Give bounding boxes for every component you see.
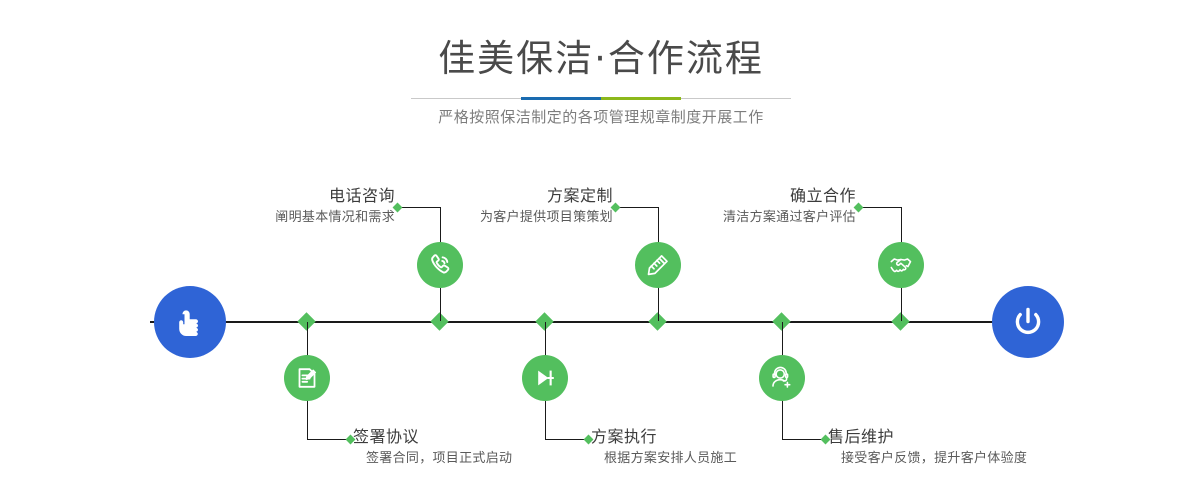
page-title: 佳美保洁·合作流程 — [0, 36, 1202, 82]
connector-horizontal-step-6 — [782, 439, 825, 440]
timeline-end-node[interactable] — [992, 286, 1064, 358]
step-title-4: 方案执行 — [591, 426, 737, 448]
process-flow-infographic: 佳美保洁·合作流程 严格按照保洁制定的各项管理规章制度开展工作 — [0, 0, 1202, 502]
step-label-5: 确立合作 清洁方案通过客户评估 — [676, 185, 856, 229]
step-desc-4: 根据方案安排人员施工 — [591, 448, 737, 470]
play-execute-icon — [532, 365, 558, 391]
step-node-4[interactable] — [522, 355, 568, 401]
step-node-6[interactable] — [759, 355, 805, 401]
step-title-1: 电话咨询 — [215, 185, 395, 207]
step-node-3[interactable] — [635, 242, 681, 288]
step-label-1: 电话咨询 阐明基本情况和需求 — [215, 185, 395, 229]
connector-horizontal-step-3 — [616, 207, 658, 208]
document-sign-icon — [294, 365, 320, 391]
step-node-5[interactable] — [878, 242, 924, 288]
step-desc-5: 清洁方案通过客户评估 — [676, 207, 856, 229]
step-title-2: 签署协议 — [353, 426, 512, 448]
timeline-start-node[interactable] — [154, 286, 226, 358]
connector-horizontal-step-2 — [307, 439, 350, 440]
step-node-2[interactable] — [284, 355, 330, 401]
pencil-ruler-icon — [645, 252, 671, 278]
step-desc-2: 签署合同，项目正式启动 — [353, 448, 512, 470]
pointing-hand-icon — [170, 302, 210, 342]
divider-blue-segment — [521, 97, 601, 100]
customer-service-icon — [769, 365, 795, 391]
step-desc-6: 接受客户反馈，提升客户体验度 — [828, 448, 1027, 470]
step-label-6: 售后维护 接受客户反馈，提升客户体验度 — [828, 426, 1027, 470]
step-title-3: 方案定制 — [433, 185, 613, 207]
step-node-1[interactable] — [417, 242, 463, 288]
title-divider — [411, 97, 791, 100]
step-title-6: 售后维护 — [828, 426, 1027, 448]
connector-horizontal-step-5 — [859, 207, 901, 208]
phone-call-icon — [427, 252, 453, 278]
timeline-axis — [150, 321, 1052, 323]
page-subtitle: 严格按照保洁制定的各项管理规章制度开展工作 — [0, 105, 1202, 129]
divider-green-segment — [601, 97, 681, 100]
connector-horizontal-step-4 — [545, 439, 588, 440]
handshake-icon — [888, 252, 914, 278]
power-button-icon — [1008, 302, 1048, 342]
step-title-5: 确立合作 — [676, 185, 856, 207]
step-label-4: 方案执行 根据方案安排人员施工 — [591, 426, 737, 470]
step-desc-1: 阐明基本情况和需求 — [215, 207, 395, 229]
step-label-3: 方案定制 为客户提供项目策策划 — [433, 185, 613, 229]
step-label-2: 签署协议 签署合同，项目正式启动 — [353, 426, 512, 470]
step-desc-3: 为客户提供项目策策划 — [433, 207, 613, 229]
